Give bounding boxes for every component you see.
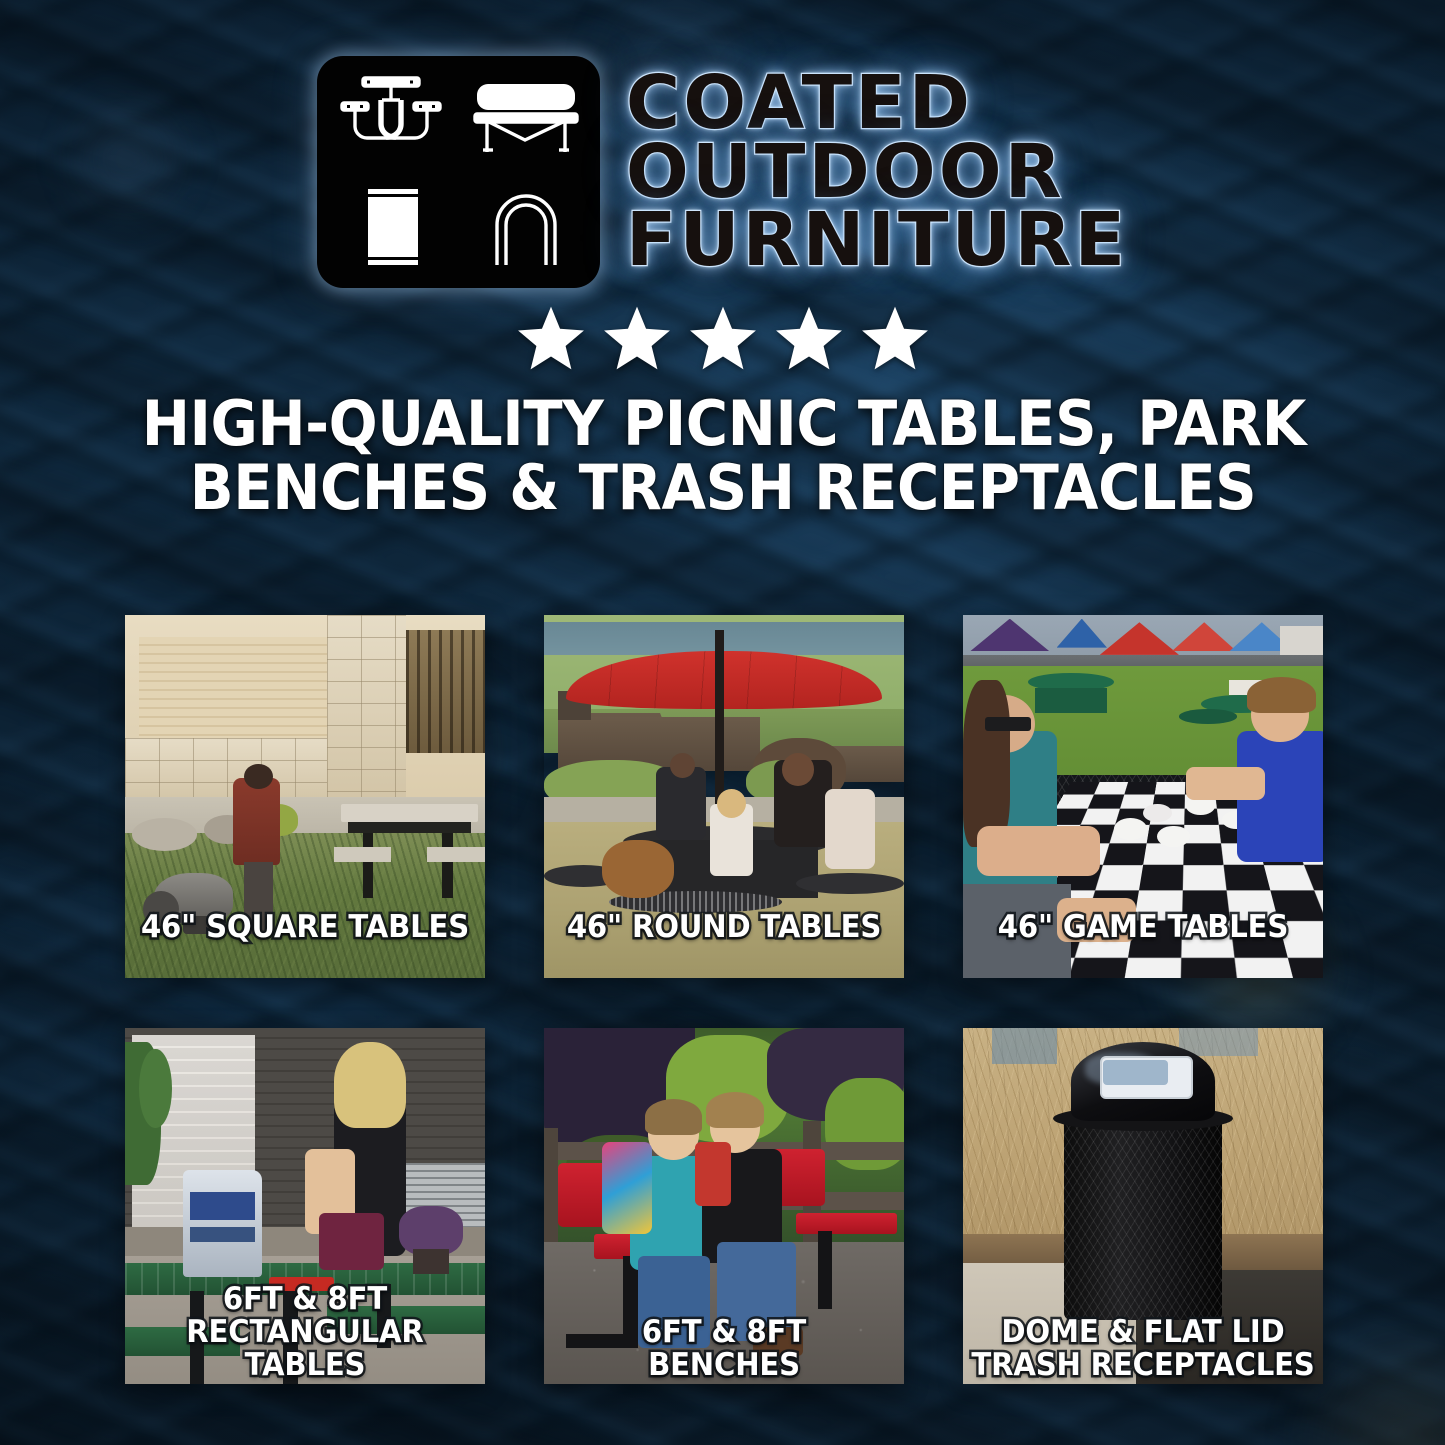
brand-line-1: COATED (626, 69, 1128, 138)
product-photo-game-tables (963, 615, 1323, 978)
product-tile-square-tables[interactable]: 46" SQUARE TABLES (125, 615, 485, 978)
product-tile-rectangular-tables[interactable]: 6FT & 8FT RECTANGULAR TABLES (125, 1028, 485, 1384)
product-photo-trash-receptacles (963, 1028, 1323, 1384)
product-tile-trash-receptacles[interactable]: DOME & FLAT LID TRASH RECEPTACLES (963, 1028, 1323, 1384)
star-rating (515, 304, 931, 374)
headline-line-2: BENCHES & TRASH RECEPTACLES (141, 456, 1304, 520)
star-icon (515, 304, 587, 374)
trash-receptacle-icon (324, 172, 459, 281)
product-photo-rectangular-tables (125, 1028, 485, 1384)
product-tile-benches[interactable]: 6FT & 8FT BENCHES (544, 1028, 904, 1384)
star-icon (601, 304, 673, 374)
marketing-poster: COATED OUTDOOR FURNITURE HIGH-QUALITY PI… (0, 0, 1445, 1445)
bike-rack-icon (458, 172, 593, 281)
product-grid: 46" SQUARE TABLES (125, 615, 1323, 1384)
product-tile-round-tables[interactable]: 46" ROUND TABLES (544, 615, 904, 978)
picnic-table-icon (324, 63, 459, 172)
headline-line-1: HIGH-QUALITY PICNIC TABLES, PARK (141, 392, 1304, 456)
page-title: HIGH-QUALITY PICNIC TABLES, PARK BENCHES… (141, 392, 1304, 520)
product-photo-benches (544, 1028, 904, 1384)
brand-logo (317, 56, 600, 288)
park-bench-icon (458, 63, 593, 172)
product-tile-game-tables[interactable]: 46" GAME TABLES (963, 615, 1323, 978)
product-photo-round-tables (544, 615, 904, 978)
product-photo-square-tables (125, 615, 485, 978)
star-icon (859, 304, 931, 374)
poster-header: COATED OUTDOOR FURNITURE HIGH-QUALITY PI… (0, 56, 1445, 520)
brand-name: COATED OUTDOOR FURNITURE (626, 69, 1128, 275)
star-icon (687, 304, 759, 374)
brand-lockup: COATED OUTDOOR FURNITURE (317, 56, 1128, 288)
star-icon (773, 304, 845, 374)
brand-line-3: FURNITURE (626, 206, 1128, 275)
